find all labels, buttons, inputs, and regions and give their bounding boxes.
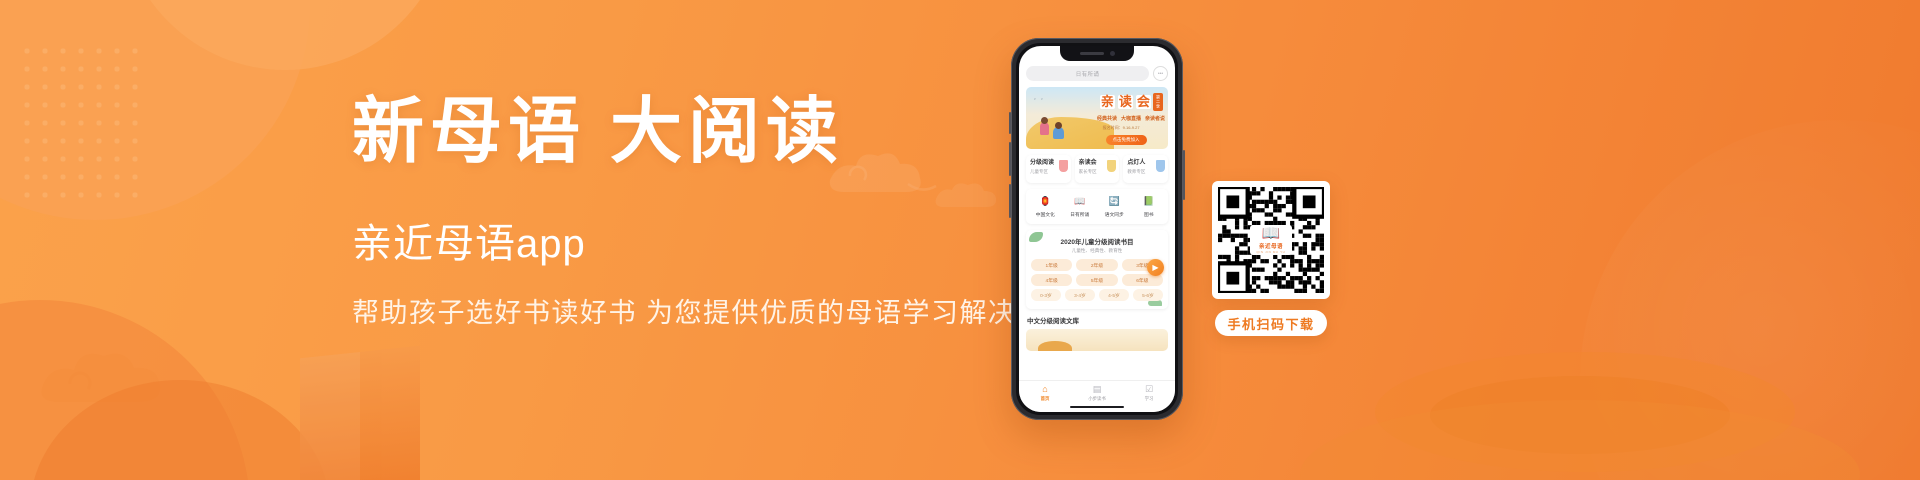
quick-icon-label: 图书 [1132, 211, 1167, 218]
age-chip[interactable]: 5-6岁 [1133, 289, 1163, 301]
home-indicator [1070, 406, 1124, 409]
category-card-parent-club[interactable]: 亲读会 家长专区 [1075, 155, 1120, 183]
tab-label: 学习 [1123, 396, 1175, 402]
checklist-icon: ☑ [1123, 385, 1175, 394]
quick-icon-culture[interactable]: 🏮 中国文化 [1028, 195, 1063, 218]
age-chip-row: 0-3岁 3-4岁 4-5岁 5-6岁 [1031, 289, 1163, 301]
decor-circle-top-left-2 [120, 0, 450, 70]
grade-chip[interactable]: 1年级 [1031, 259, 1072, 271]
quick-icon-label: 语文同步 [1097, 211, 1132, 218]
play-video-icon[interactable]: ▶ [1147, 259, 1164, 276]
bookmark-icon [1059, 160, 1068, 172]
bookmark-icon [1156, 160, 1165, 172]
age-chip[interactable]: 3-4岁 [1065, 289, 1095, 301]
tab-study[interactable]: ☑ 学习 [1123, 385, 1175, 402]
tab-home[interactable]: ⌂ 首页 [1019, 385, 1071, 402]
grade-chip[interactable]: 4年级 [1031, 274, 1072, 286]
illustration-child-1 [1040, 122, 1049, 135]
page-title: 新母语 大阅读 [352, 96, 1052, 168]
quick-icon-label: 中国文化 [1028, 211, 1063, 218]
age-chip[interactable]: 4-5岁 [1099, 289, 1129, 301]
decor-ground-ellipse [1375, 352, 1795, 472]
scan-download-button[interactable]: 手机扫码下载 [1215, 310, 1327, 336]
library-section-title: 中文分级阅读文库 [1027, 315, 1168, 325]
banner-copy: 新母语 大阅读 亲近母语app 帮助孩子选好书读好书 为您提供优质的母语学习解决… [352, 96, 1052, 327]
more-icon[interactable]: ••• [1153, 66, 1168, 81]
logo-name: 亲近母语 [1259, 242, 1283, 250]
culture-icon: 🏮 [1039, 195, 1052, 208]
library-card[interactable] [1026, 329, 1168, 351]
phone-notch [1060, 46, 1134, 61]
app-search-bar[interactable]: 日有所诵 ••• [1026, 66, 1168, 81]
hero-join-button[interactable]: 点击免费加入 [1106, 135, 1147, 145]
earpiece-speaker-icon [1080, 52, 1104, 55]
tab-label: 首页 [1019, 396, 1071, 402]
hero-title-char: 亲 [1100, 95, 1115, 109]
phone-power-button [1183, 150, 1185, 200]
hero-date: 报名时间：9.16-9.27 [1103, 125, 1140, 131]
decor-circle-bottom-left [0, 300, 250, 480]
category-card-graded-reading[interactable]: 分级阅读 儿童专区 [1026, 155, 1071, 183]
phone-mockup: 日有所诵 ••• ᵛ ᵛ 亲 读 会 [1011, 38, 1183, 420]
quick-icon-books[interactable]: 📗 图书 [1132, 195, 1167, 218]
phone-frame: 日有所诵 ••• ᵛ ᵛ 亲 读 会 [1016, 43, 1178, 415]
hero-title-char: 会 [1136, 95, 1151, 109]
illustration-child-2 [1053, 127, 1064, 139]
age-chip[interactable]: 0-3岁 [1031, 289, 1061, 301]
decor-ground-ellipse-3 [1300, 400, 1860, 480]
quick-icon-label: 日有所诵 [1063, 211, 1098, 218]
promo-banner: 新母语 大阅读 亲近母语app 帮助孩子选好书读好书 为您提供优质的母语学习解决… [0, 0, 1920, 480]
app-home-screen: 日有所诵 ••• ᵛ ᵛ 亲 读 会 [1019, 46, 1175, 412]
booklist-title: 2020年儿童分级阅读书目 [1031, 236, 1163, 246]
category-card-list: 分级阅读 儿童专区 亲读会 家长专区 点灯人 教师专区 [1026, 155, 1168, 183]
hero-feature: 大咖直播 [1121, 115, 1141, 122]
grade-chip[interactable]: 2年级 [1076, 259, 1117, 271]
app-hero-banner[interactable]: ᵛ ᵛ 亲 读 会 第二季 经典共读 大咖直播 亲读者说 [1026, 87, 1168, 149]
front-camera-icon [1110, 51, 1115, 56]
search-input[interactable]: 日有所诵 [1026, 66, 1149, 81]
phone-volume-up-button [1009, 142, 1011, 176]
quick-icon-row: 🏮 中国文化 📖 日有所诵 🔄 语文同步 📗 [1026, 189, 1168, 224]
sync-icon: 🔄 [1108, 195, 1121, 208]
booklist-subtitle: 儿童性、经典性、教育性 [1031, 248, 1163, 254]
search-placeholder: 日有所诵 [1076, 70, 1100, 78]
phone-mute-switch [1009, 112, 1011, 134]
logo-pinyin: QIN JIN MU YU [1257, 250, 1286, 254]
list-icon: ▤ [1071, 385, 1123, 394]
decor-birds-icon: ᵛ ᵛ [1034, 97, 1045, 103]
tab-reading[interactable]: ▤ 小步读书 [1071, 385, 1123, 402]
phone-volume-down-button [1009, 184, 1011, 218]
book-icon: 📗 [1142, 195, 1155, 208]
decor-glow [1580, 120, 1920, 480]
decor-circle-top-left [0, 0, 310, 220]
qr-code-image: 📖 亲近母语 QIN JIN MU YU [1218, 187, 1324, 293]
booklist-card: 2020年儿童分级阅读书目 儿童性、经典性、教育性 1年级 2年级 3年级 4年… [1026, 230, 1168, 309]
grade-chip-row: 1年级 2年级 3年级 [1031, 259, 1163, 271]
recite-icon: 📖 [1073, 195, 1086, 208]
tagline: 帮助孩子选好书读好书 为您提供优质的母语学习解决方案 [352, 300, 1052, 327]
quick-icon-recite[interactable]: 📖 日有所诵 [1063, 195, 1098, 218]
grade-chip[interactable]: 5年级 [1076, 274, 1117, 286]
hero-feature: 亲读者说 [1145, 115, 1165, 122]
quick-icon-sync[interactable]: 🔄 语文同步 [1097, 195, 1132, 218]
decor-ground-ellipse-2 [1430, 376, 1730, 454]
hero-feature: 经典共读 [1097, 115, 1117, 122]
decor-cube [300, 346, 420, 480]
category-card-teacher[interactable]: 点灯人 教师专区 [1123, 155, 1168, 183]
cloud-swirl-left-icon [30, 336, 180, 416]
phone-screen: 日有所诵 ••• ᵛ ᵛ 亲 读 会 [1019, 46, 1175, 412]
hero-title-char: 读 [1118, 95, 1133, 109]
bookmark-icon [1107, 160, 1116, 172]
hero-features: 经典共读 大咖直播 亲读者说 [1097, 115, 1165, 122]
tab-label: 小步读书 [1071, 396, 1123, 402]
app-name: 亲近母语app [352, 224, 1052, 264]
grade-chip-row: 4年级 5年级 6年级 [1031, 274, 1163, 286]
hero-season-badge: 第二季 [1153, 93, 1163, 111]
home-icon: ⌂ [1019, 385, 1071, 394]
open-book-icon: 📖 [1262, 226, 1281, 241]
grade-chip-grid: 1年级 2年级 3年级 4年级 5年级 6年级 0-3岁 [1031, 259, 1163, 301]
hero-title: 亲 读 会 [1100, 95, 1151, 109]
qr-code-card[interactable]: 📖 亲近母语 QIN JIN MU YU [1212, 181, 1330, 299]
decor-dot-grid [18, 42, 148, 202]
app-logo: 📖 亲近母语 QIN JIN MU YU [1250, 225, 1292, 255]
decor-circle-bottom-left-2 [30, 380, 330, 480]
